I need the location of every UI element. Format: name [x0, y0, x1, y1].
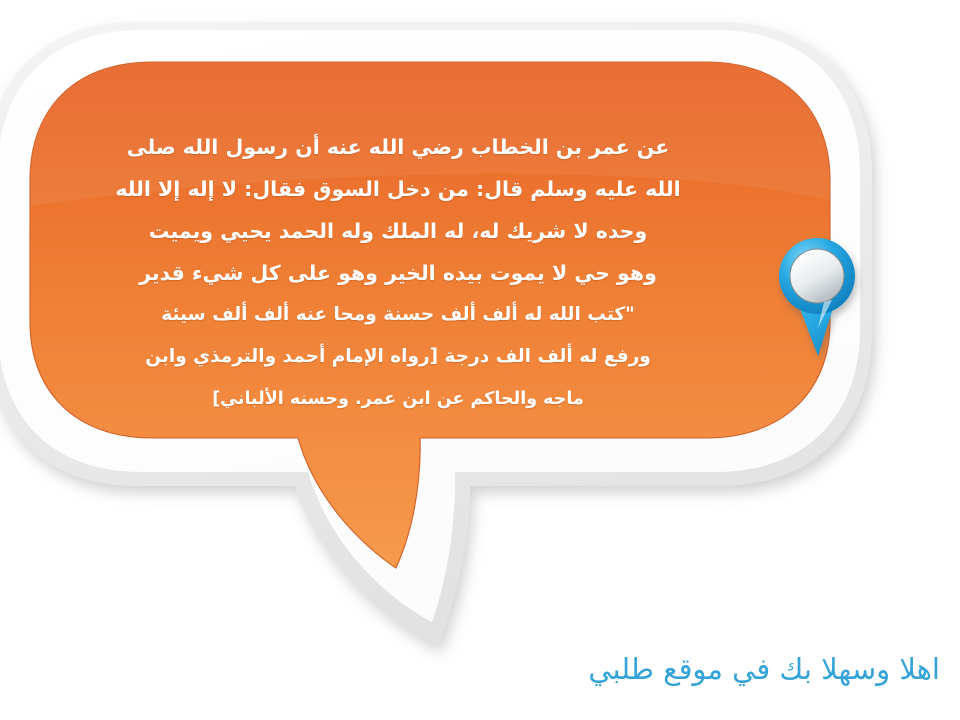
- speech-bubble: [0, 0, 960, 720]
- location-pin-icon: [772, 228, 864, 360]
- location-pin-graphic: [772, 228, 864, 360]
- welcome-message: اهلا وسهلا بك في موقع طلبي: [440, 648, 940, 690]
- pin-center-circle: [790, 249, 844, 303]
- poster-canvas: عن عمر بن الخطاب رضي الله عنه أن رسول ال…: [0, 0, 960, 720]
- speech-bubble-graphic: [0, 0, 960, 720]
